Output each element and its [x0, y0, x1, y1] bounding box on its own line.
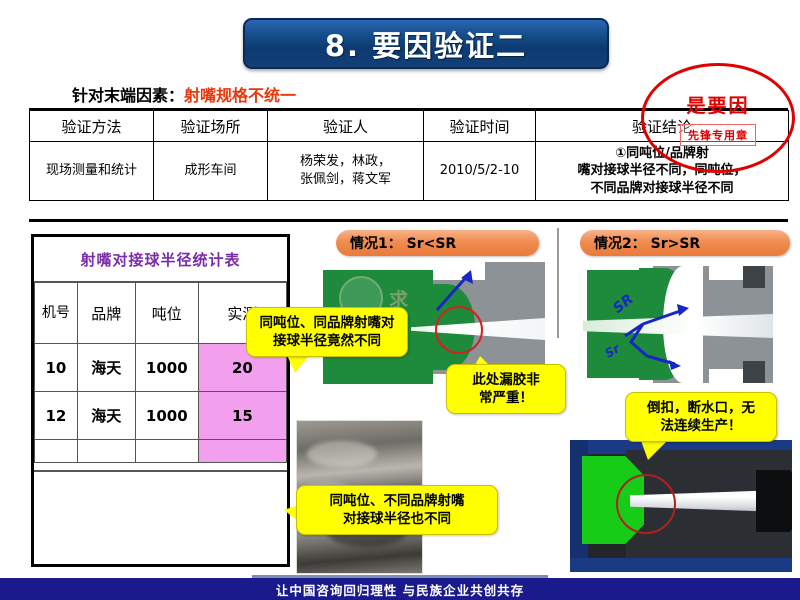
mold-block-top [743, 266, 765, 288]
render-right-block [756, 470, 792, 532]
cell-person: 杨荣发，林政， 张佩剑，蒋文军 [268, 142, 424, 201]
callout-3-line1: 倒扣，断水口，无 [647, 399, 755, 417]
stat-cell-brand: 海天 [77, 392, 135, 440]
stat-cell-tonnage: 1000 [135, 344, 198, 392]
subheading: 针对末端因素：射嘴规格不统一 [72, 82, 296, 106]
case2-label: 情况2： Sr>SR [594, 233, 700, 253]
col-header-place: 验证场所 [154, 111, 268, 142]
callout-2-text: 此处漏胶非 常严重！ [466, 368, 546, 410]
mold-block-bottom [743, 361, 765, 383]
pointer-arrow-icon [431, 268, 477, 314]
footer-text: 让中国咨询回归理性 与民族企业共创共存 [276, 580, 524, 599]
approval-stamp-icon: 是要因 先锋专用章 [641, 63, 795, 173]
cell-method: 现场测量和统计 [30, 142, 154, 201]
callout-2-line2: 常严重！ [472, 389, 540, 407]
table-row-empty [35, 440, 287, 463]
statistics-title-text: 射嘴对接球半径统计表 [80, 249, 240, 270]
stat-empty-cell [35, 440, 78, 463]
callout-1-line1: 同吨位、同品牌射嘴对 [260, 314, 395, 332]
callout-1-text: 同吨位、同品牌射嘴对 接球半径竟然不同 [254, 311, 401, 353]
callout-4-text: 同吨位、不同品牌射嘴 对接球半径也不同 [324, 489, 471, 531]
render-bottom-band [570, 558, 792, 572]
subheading-highlight: 射嘴规格不统一 [184, 86, 296, 105]
photo-highlight [307, 441, 377, 467]
slide-root: 8. 要因验证二 针对末端因素：射嘴规格不统一 验证方法 验证场所 验证人 验证… [0, 0, 800, 600]
callout-same-tonnage-same-brand: 同吨位、同品牌射嘴对 接球半径竟然不同 [246, 307, 408, 357]
mold-notch-bottom [709, 369, 743, 383]
callout-3-line2: 法连续生产！ [647, 417, 755, 435]
case1-label: 情况1： Sr<SR [350, 233, 456, 253]
table-bottom-rule [29, 219, 788, 222]
statistics-table-title: 射嘴对接球半径统计表 [34, 237, 287, 282]
undercut-highlight-circle-icon [616, 474, 676, 534]
cell-person-line1: 杨荣发，林政， [268, 153, 423, 171]
callout-3-text: 倒扣，断水口，无 法连续生产！ [641, 396, 761, 438]
slide-title-banner: 8. 要因验证二 [243, 18, 609, 69]
statistics-table-panel: 射嘴对接球半径统计表 机号 品牌 吨位 实测 10 海天 1000 20 12 … [31, 234, 290, 567]
stat-empty-cell [135, 440, 198, 463]
callout-1-line2: 接球半径竟然不同 [260, 332, 395, 350]
callout-2-line1: 此处漏胶非 [472, 371, 540, 389]
col-header-person: 验证人 [268, 111, 424, 142]
stat-cell-machine: 12 [35, 392, 78, 440]
slide-footer: 让中国咨询回归理性 与民族企业共创共存 [0, 578, 800, 600]
case1-header-pill: 情况1： Sr<SR [336, 230, 539, 256]
callout-4-line1: 同吨位、不同品牌射嘴 [330, 492, 465, 510]
stamp-seal-text: 先锋专用章 [680, 124, 756, 146]
case2-header-pill: 情况2： Sr>SR [580, 230, 790, 256]
cell-person-line2: 张佩剑，蒋文军 [268, 171, 423, 189]
stat-col-tonnage: 吨位 [135, 283, 198, 344]
stat-col-machine: 机号 [35, 283, 78, 344]
cell-place: 成形车间 [154, 142, 268, 201]
callout-glue-leak: 此处漏胶非 常严重！ [446, 364, 566, 414]
stat-col-brand: 品牌 [77, 283, 135, 344]
stat-cell-tonnage: 1000 [135, 392, 198, 440]
stamp-verdict: 是要因 [686, 91, 749, 118]
cell-time: 2010/5/2-10 [424, 142, 536, 201]
callout-4-line2: 对接球半径也不同 [330, 510, 465, 528]
col-header-method: 验证方法 [30, 111, 154, 142]
case2-nozzle-diagram: SR Sr [583, 262, 773, 387]
page-title: 8. 要因验证二 [325, 23, 527, 65]
mold-notch-top [709, 266, 743, 280]
subheading-prefix: 针对末端因素： [72, 86, 184, 105]
statistics-table-blank-area [34, 470, 287, 564]
callout-undercut-production: 倒扣，断水口，无 法连续生产！ [625, 392, 777, 442]
radius-arrows-icon [617, 302, 707, 372]
stat-cell-measured: 15 [198, 392, 286, 440]
column-divider [557, 228, 559, 338]
stat-cell-machine: 10 [35, 344, 78, 392]
stat-cell-brand: 海天 [77, 344, 135, 392]
stat-empty-cell [77, 440, 135, 463]
stat-empty-cell [198, 440, 286, 463]
col-header-time: 验证时间 [424, 111, 536, 142]
table-row: 12 海天 1000 15 [35, 392, 287, 440]
case2-3d-render [570, 440, 792, 572]
callout-same-tonnage-diff-brand: 同吨位、不同品牌射嘴 对接球半径也不同 [296, 485, 498, 535]
cell-conclusion-line3: 不同品牌对接球半径不同 [540, 180, 784, 198]
